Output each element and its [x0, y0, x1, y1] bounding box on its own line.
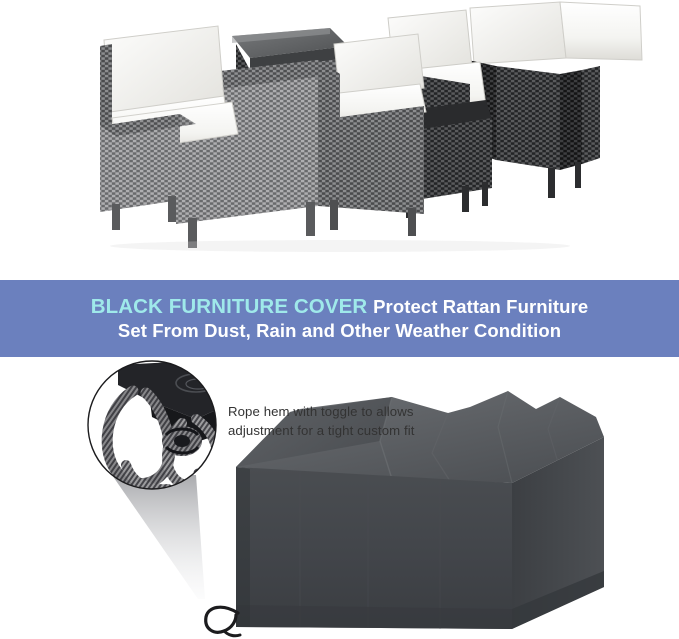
marketing-banner: BLACK FURNITURE COVER Protect Rattan Fur… [0, 280, 679, 357]
rattan-furniture-photo [0, 0, 679, 280]
rope-hem-caption: Rope hem with toggle to allows adjustmen… [228, 402, 528, 441]
banner-headline-highlight: BLACK FURNITURE COVER [91, 295, 373, 318]
cover-detail-section [0, 357, 679, 639]
rattan-furniture-illustration [0, 0, 679, 280]
banner-line-2: Set From Dust, Rain and Other Weather Co… [118, 321, 561, 342]
banner-line-1: BLACK FURNITURE COVER Protect Rattan Fur… [91, 296, 589, 319]
banner-headline-rest: Protect Rattan Furniture [373, 296, 588, 317]
product-image-page: BLACK FURNITURE COVER Protect Rattan Fur… [0, 0, 679, 639]
caption-line-1: Rope hem with toggle to allows [228, 402, 528, 421]
caption-line-2: adjustment for a tight custom fit [228, 421, 528, 440]
cover-detail-illustration [0, 357, 679, 639]
toggle-knot [162, 426, 202, 456]
